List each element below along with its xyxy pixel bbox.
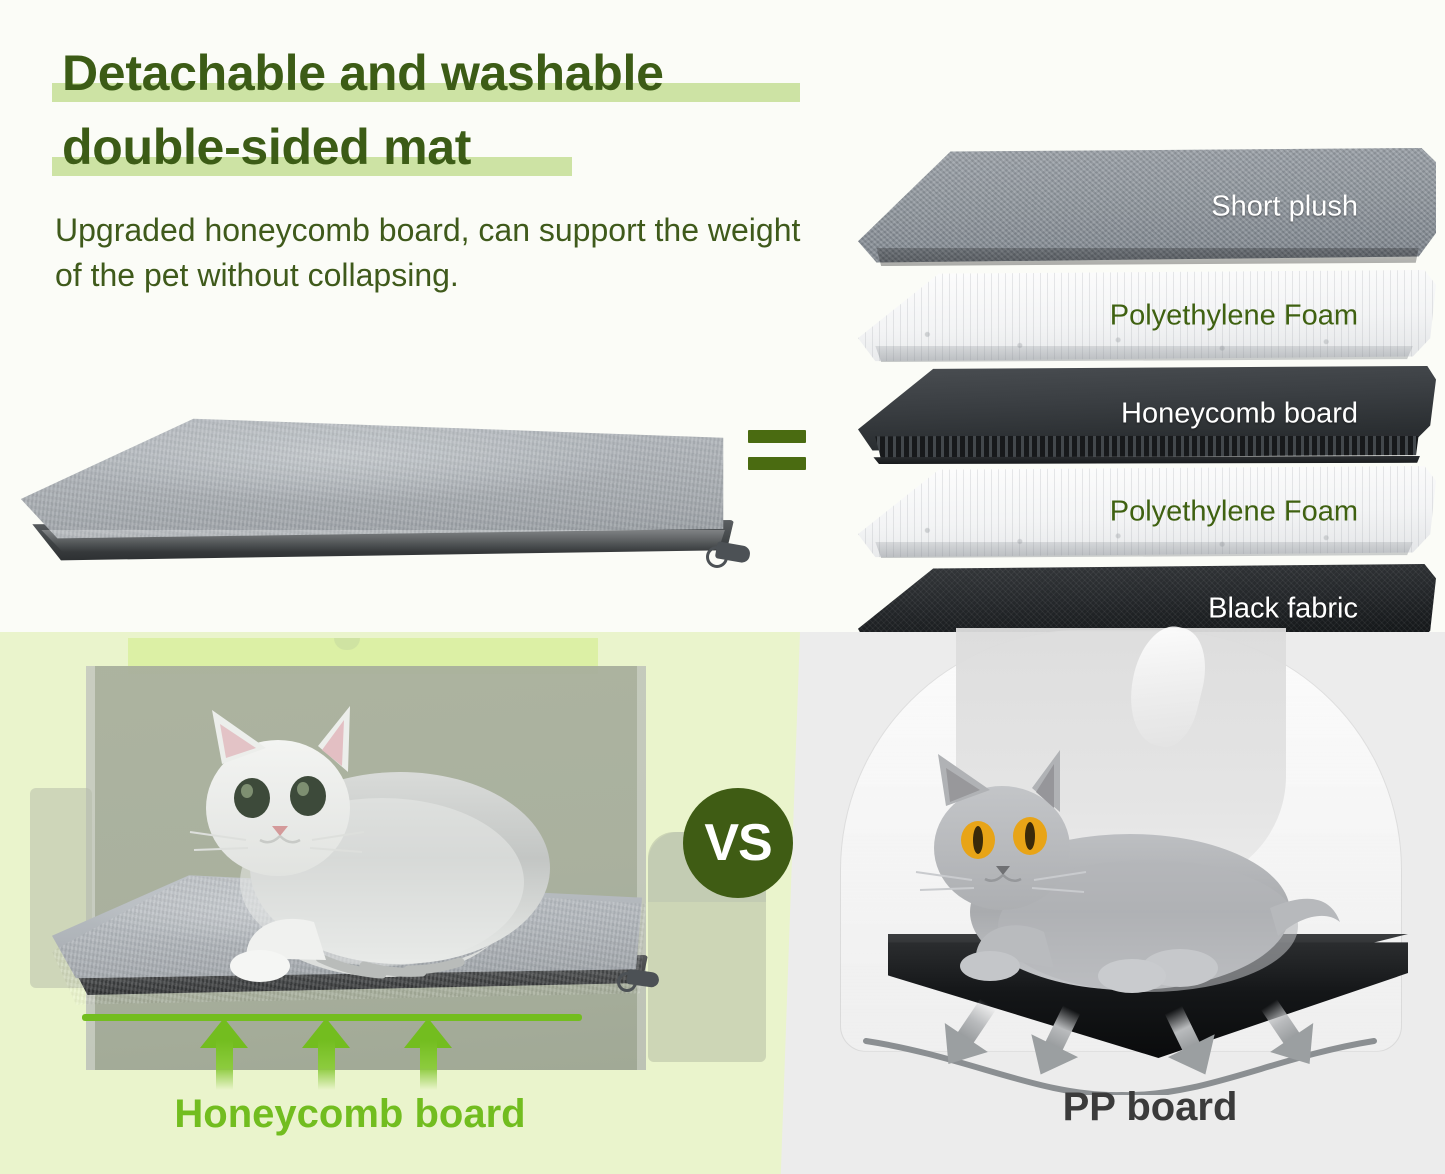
equals-sign-icon (748, 430, 806, 480)
subtitle: Upgraded honeycomb board, can support th… (55, 208, 815, 299)
top-section: Detachable and washable double-sided mat… (0, 0, 1445, 632)
equals-bar-bottom (748, 457, 806, 470)
arrow-stem (420, 1040, 437, 1090)
product-mat-image (18, 412, 738, 582)
infographic-root: Detachable and washable double-sided mat… (0, 0, 1445, 1174)
arrow-stem (216, 1040, 233, 1090)
layer-polyethylene-foam-top: Polyethylene Foam (858, 270, 1436, 362)
page-title: Detachable and washable double-sided mat (62, 36, 862, 184)
layer-polyethylene-foam-bottom: Polyethylene Foam (858, 466, 1436, 558)
layer-label-foam-top: Polyethylene Foam (1110, 300, 1358, 333)
layer-label-black-fabric: Black fabric (1208, 593, 1358, 626)
vs-badge-text: VS (704, 817, 771, 869)
support-arrow-up-1 (200, 1018, 248, 1090)
layer-black-fabric: Black fabric (858, 564, 1436, 632)
honeycomb-board-label: Honeycomb board (140, 1092, 560, 1137)
honeycomb-base-edge (871, 456, 1423, 464)
white-cat-illustration (150, 690, 630, 1000)
equals-bar-top (748, 430, 806, 443)
layer-edge (858, 542, 1436, 558)
arrow-stem (318, 1040, 335, 1090)
mat-edge-highlight (20, 530, 732, 552)
layer-stack-diagram: Short plush Polyethylene Foam Honeycomb … (858, 148, 1438, 568)
layer-edge (858, 346, 1436, 362)
layer-edge (858, 248, 1436, 266)
headline-line-1: Detachable and washable (62, 36, 862, 110)
pp-board-label: PP board (940, 1085, 1360, 1130)
layer-short-plush: Short plush (858, 148, 1436, 266)
zipper-icon (706, 540, 754, 574)
headline-text-1: Detachable and washable (62, 45, 664, 101)
support-arrow-up-3 (404, 1018, 452, 1090)
layer-honeycomb-board: Honeycomb board (858, 366, 1436, 462)
layer-label-short-plush: Short plush (1211, 191, 1358, 224)
headline-line-2: double-sided mat (62, 110, 862, 184)
vs-badge: VS (683, 788, 793, 898)
layer-label-honeycomb-board: Honeycomb board (1121, 398, 1358, 431)
gray-cat-illustration (880, 740, 1350, 1010)
headline-text-2: double-sided mat (62, 119, 471, 175)
honeycomb-flute-edge (872, 434, 1421, 458)
support-arrow-up-2 (302, 1018, 350, 1090)
layer-label-foam-bottom: Polyethylene Foam (1110, 496, 1358, 529)
